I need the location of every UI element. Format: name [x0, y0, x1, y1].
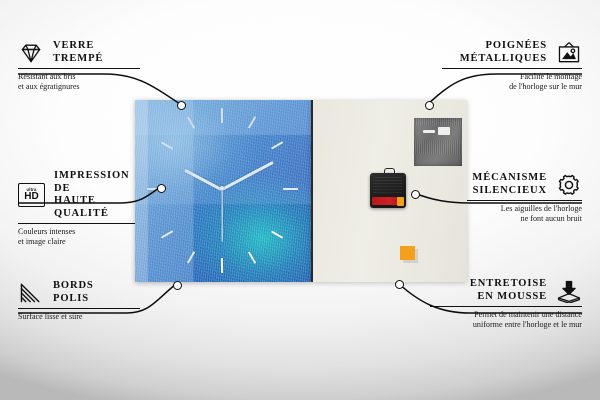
callout-title: MÉCANISME SILENCIEUX: [472, 172, 547, 197]
callout-title: VERRE TREMPÉ: [53, 40, 103, 65]
foam-spacer: [400, 246, 415, 260]
mechanism-shaft: [384, 168, 395, 176]
hour-tick: [221, 108, 223, 123]
callout-bords-polis[interactable]: BORDS POLIS Surface lisse et sûre: [18, 280, 140, 322]
callout-impression-hd[interactable]: ultra HD IMPRESSION DE HAUTE QUALITÉ Cou…: [18, 170, 146, 247]
callout-subtitle: Permet de maintenir une distance uniform…: [430, 310, 582, 330]
mechanism-label: [372, 197, 403, 205]
clock-center-hub: [220, 186, 224, 190]
callout-subtitle: Surface lisse et sûre: [18, 312, 140, 322]
hour-tick: [248, 251, 257, 263]
callout-entretoise-en-mousse[interactable]: ENTRETOISE EN MOUSSE Permet de maintenir…: [430, 278, 582, 330]
callout-verre-trempe[interactable]: VERRE TREMPÉ Résistant aux bris et aux é…: [18, 40, 140, 92]
hour-tick: [187, 116, 196, 128]
clock-back-panel: [311, 100, 467, 282]
callout-poignees-metalliques[interactable]: POIGNÉES MÉTALLIQUES Facilite le montage…: [442, 40, 582, 92]
divider: [18, 223, 146, 224]
callout-title: POIGNÉES MÉTALLIQUES: [460, 40, 547, 65]
clock-mechanism: [370, 173, 406, 208]
hanger-plate: [414, 118, 462, 166]
callout-title: ENTRETOISE EN MOUSSE: [470, 278, 547, 303]
foam-spacer-arrow-icon: [556, 279, 582, 303]
minute-hand: [221, 161, 274, 191]
hour-tick: [161, 230, 173, 239]
marker-entretoise[interactable]: [395, 280, 404, 289]
marker-impression-hd[interactable]: [157, 184, 166, 193]
divider: [442, 68, 582, 69]
marker-mecanisme[interactable]: [411, 190, 420, 199]
hanger-slot: [423, 130, 435, 133]
hour-tick: [283, 188, 298, 190]
callout-subtitle: Couleurs intenses et image claire: [18, 227, 146, 247]
callout-header: VERRE TREMPÉ: [18, 40, 140, 65]
diamond-icon: [18, 41, 44, 65]
hour-tick: [161, 141, 173, 150]
picture-frame-hanger-icon: [556, 41, 582, 65]
hour-tick: [271, 141, 283, 150]
callout-header: ultra HD IMPRESSION DE HAUTE QUALITÉ: [18, 170, 146, 220]
marker-verre-trempe[interactable]: [177, 101, 186, 110]
divider: [430, 306, 582, 307]
mechanism-body-detail: [373, 177, 402, 193]
hd-icon-main-text: HD: [24, 192, 38, 202]
callout-header: POIGNÉES MÉTALLIQUES: [442, 40, 582, 65]
divider: [18, 68, 140, 69]
hour-tick: [271, 230, 283, 239]
callout-subtitle: Facilite le montage de l'horloge sur le …: [442, 72, 582, 92]
hour-hand: [184, 168, 223, 191]
second-hand: [221, 190, 222, 242]
marker-poignees[interactable]: [425, 101, 434, 110]
callout-subtitle: Résistant aux bris et aux égratignures: [18, 72, 140, 92]
callout-title: IMPRESSION DE HAUTE QUALITÉ: [54, 170, 146, 220]
hour-tick: [187, 251, 196, 263]
callout-title: BORDS POLIS: [53, 280, 94, 305]
hour-tick: [248, 116, 257, 128]
polished-edge-icon: [18, 281, 44, 305]
callout-header: BORDS POLIS: [18, 280, 140, 305]
divider: [18, 308, 140, 309]
marker-bords-polis[interactable]: [173, 281, 182, 290]
hanger-slot: [438, 127, 450, 135]
infographic-canvas: VERRE TREMPÉ Résistant aux bris et aux é…: [0, 0, 600, 400]
ultra-hd-icon: ultra HD: [18, 183, 45, 207]
hour-tick: [221, 258, 223, 273]
gear-icon: [556, 173, 582, 197]
